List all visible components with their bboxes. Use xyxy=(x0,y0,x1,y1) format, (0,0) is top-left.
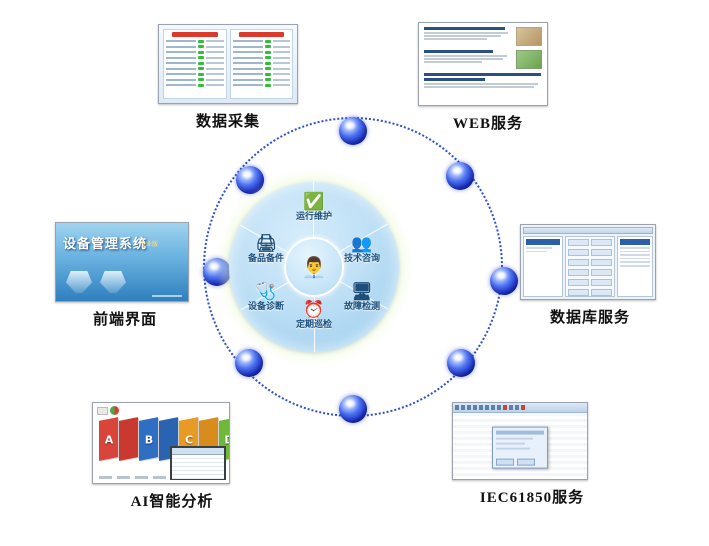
db-list-pane[interactable] xyxy=(617,236,653,297)
module-caption: 数据采集 xyxy=(158,110,298,131)
wheel-segment-equipment-diagnosis[interactable]: 🩺 设备诊断 xyxy=(234,282,298,312)
module-caption: 数据库服务 xyxy=(520,306,660,327)
ai-data-table-popup[interactable] xyxy=(170,446,226,480)
db-tree-pane[interactable] xyxy=(523,236,563,297)
acq-row xyxy=(233,56,291,60)
segment-label: 故障检测 xyxy=(344,301,380,311)
acq-row xyxy=(233,50,291,54)
acq-row xyxy=(166,45,224,49)
gear-shield-check-icon: ✅ xyxy=(282,192,346,211)
iec-toolbar[interactable] xyxy=(453,403,587,413)
module-caption: WEB服务 xyxy=(418,112,558,133)
ai-block[interactable]: A xyxy=(99,417,118,461)
module-ai-analysis[interactable]: A B C D E AI智能分析 xyxy=(92,402,252,511)
web-article xyxy=(424,73,542,89)
ai-block[interactable]: B xyxy=(139,417,158,461)
acq-row xyxy=(166,56,224,60)
orbit-node-se[interactable] xyxy=(447,349,475,377)
engineer-laptop-icon: 👨‍💼 xyxy=(302,255,327,280)
acq-row xyxy=(233,45,291,49)
segment-label: 技术咨询 xyxy=(344,253,380,263)
ai-block[interactable] xyxy=(119,417,138,461)
splash-subtitle: 专业版 xyxy=(140,239,158,248)
acq-row xyxy=(166,61,224,65)
segment-label: 设备诊断 xyxy=(248,301,284,311)
orbit-node-e[interactable] xyxy=(490,267,518,295)
module-caption: AI智能分析 xyxy=(92,490,252,511)
acq-row xyxy=(166,72,224,76)
splash-title: 设备管理系统 xyxy=(63,233,147,252)
acq-row xyxy=(233,72,291,76)
wheel-segment-operation-maintenance[interactable]: ✅ 运行维护 xyxy=(282,192,346,222)
acq-pane-left xyxy=(163,29,227,99)
stethoscope-technician-icon: 🩺 xyxy=(234,282,298,301)
web-article xyxy=(424,27,542,46)
pie-indicator-icon xyxy=(110,406,119,415)
acq-row xyxy=(166,39,224,43)
frontend-ui-thumbnail[interactable]: 设备管理系统 专业版 xyxy=(55,222,189,302)
iec61850-service-thumbnail[interactable] xyxy=(452,402,588,480)
data-acquisition-thumbnail[interactable] xyxy=(158,24,298,104)
module-frontend-ui[interactable]: 设备管理系统 专业版 前端界面 xyxy=(55,222,195,329)
service-wheel: ✅ 运行维护 👥 技术咨询 🖥 故障检测 ⏰ 定期巡检 🩺 设备诊断 🖨 备品备… xyxy=(229,182,399,352)
web-service-thumbnail[interactable] xyxy=(418,22,548,106)
db-toolbar[interactable] xyxy=(523,227,653,234)
acq-row xyxy=(166,78,224,82)
acq-row xyxy=(233,83,291,87)
wheel-hub-center[interactable]: 👨‍💼 xyxy=(284,237,344,297)
splash-footer-rule xyxy=(152,295,182,297)
acq-header xyxy=(239,32,285,37)
db-fields-pane[interactable] xyxy=(565,236,615,297)
monitor-wrench-icon: 🖥 xyxy=(330,282,394,301)
support-agents-icon: 👥 xyxy=(330,234,394,253)
acq-row xyxy=(233,67,291,71)
web-article xyxy=(424,50,542,69)
module-caption: 前端界面 xyxy=(55,308,195,329)
module-iec61850-service[interactable]: IEC61850服务 xyxy=(452,402,612,507)
acq-pane-right xyxy=(230,29,294,99)
module-database-service[interactable]: 数据库服务 xyxy=(520,224,660,327)
article-thumbnail-image xyxy=(516,27,542,46)
orbit-node-n[interactable] xyxy=(339,117,367,145)
iec-dialog[interactable] xyxy=(492,427,548,469)
module-web-service[interactable]: WEB服务 xyxy=(418,22,558,133)
module-caption: IEC61850服务 xyxy=(452,486,612,507)
orbit-node-s[interactable] xyxy=(339,395,367,423)
segment-label: 定期巡检 xyxy=(296,319,332,329)
segment-label: 备品备件 xyxy=(248,253,284,263)
acq-row xyxy=(166,83,224,87)
module-data-acquisition[interactable]: 数据采集 xyxy=(158,24,298,131)
acq-header xyxy=(172,32,218,37)
acq-row xyxy=(233,61,291,65)
ai-legend xyxy=(97,406,119,415)
diagram-canvas: ✅ 运行维护 👥 技术咨询 🖥 故障检测 ⏰ 定期巡检 🩺 设备诊断 🖨 备品备… xyxy=(0,0,709,546)
segment-label: 运行维护 xyxy=(296,211,332,221)
acq-row xyxy=(166,50,224,54)
orbit-node-ne[interactable] xyxy=(446,162,474,190)
acq-row xyxy=(166,67,224,71)
acq-row xyxy=(233,78,291,82)
article-thumbnail-image xyxy=(516,50,542,69)
ai-analysis-thumbnail[interactable]: A B C D E xyxy=(92,402,230,484)
machine-graphic xyxy=(66,271,126,293)
orbit-node-sw[interactable] xyxy=(235,349,263,377)
acq-row xyxy=(233,39,291,43)
database-service-thumbnail[interactable] xyxy=(520,224,656,300)
